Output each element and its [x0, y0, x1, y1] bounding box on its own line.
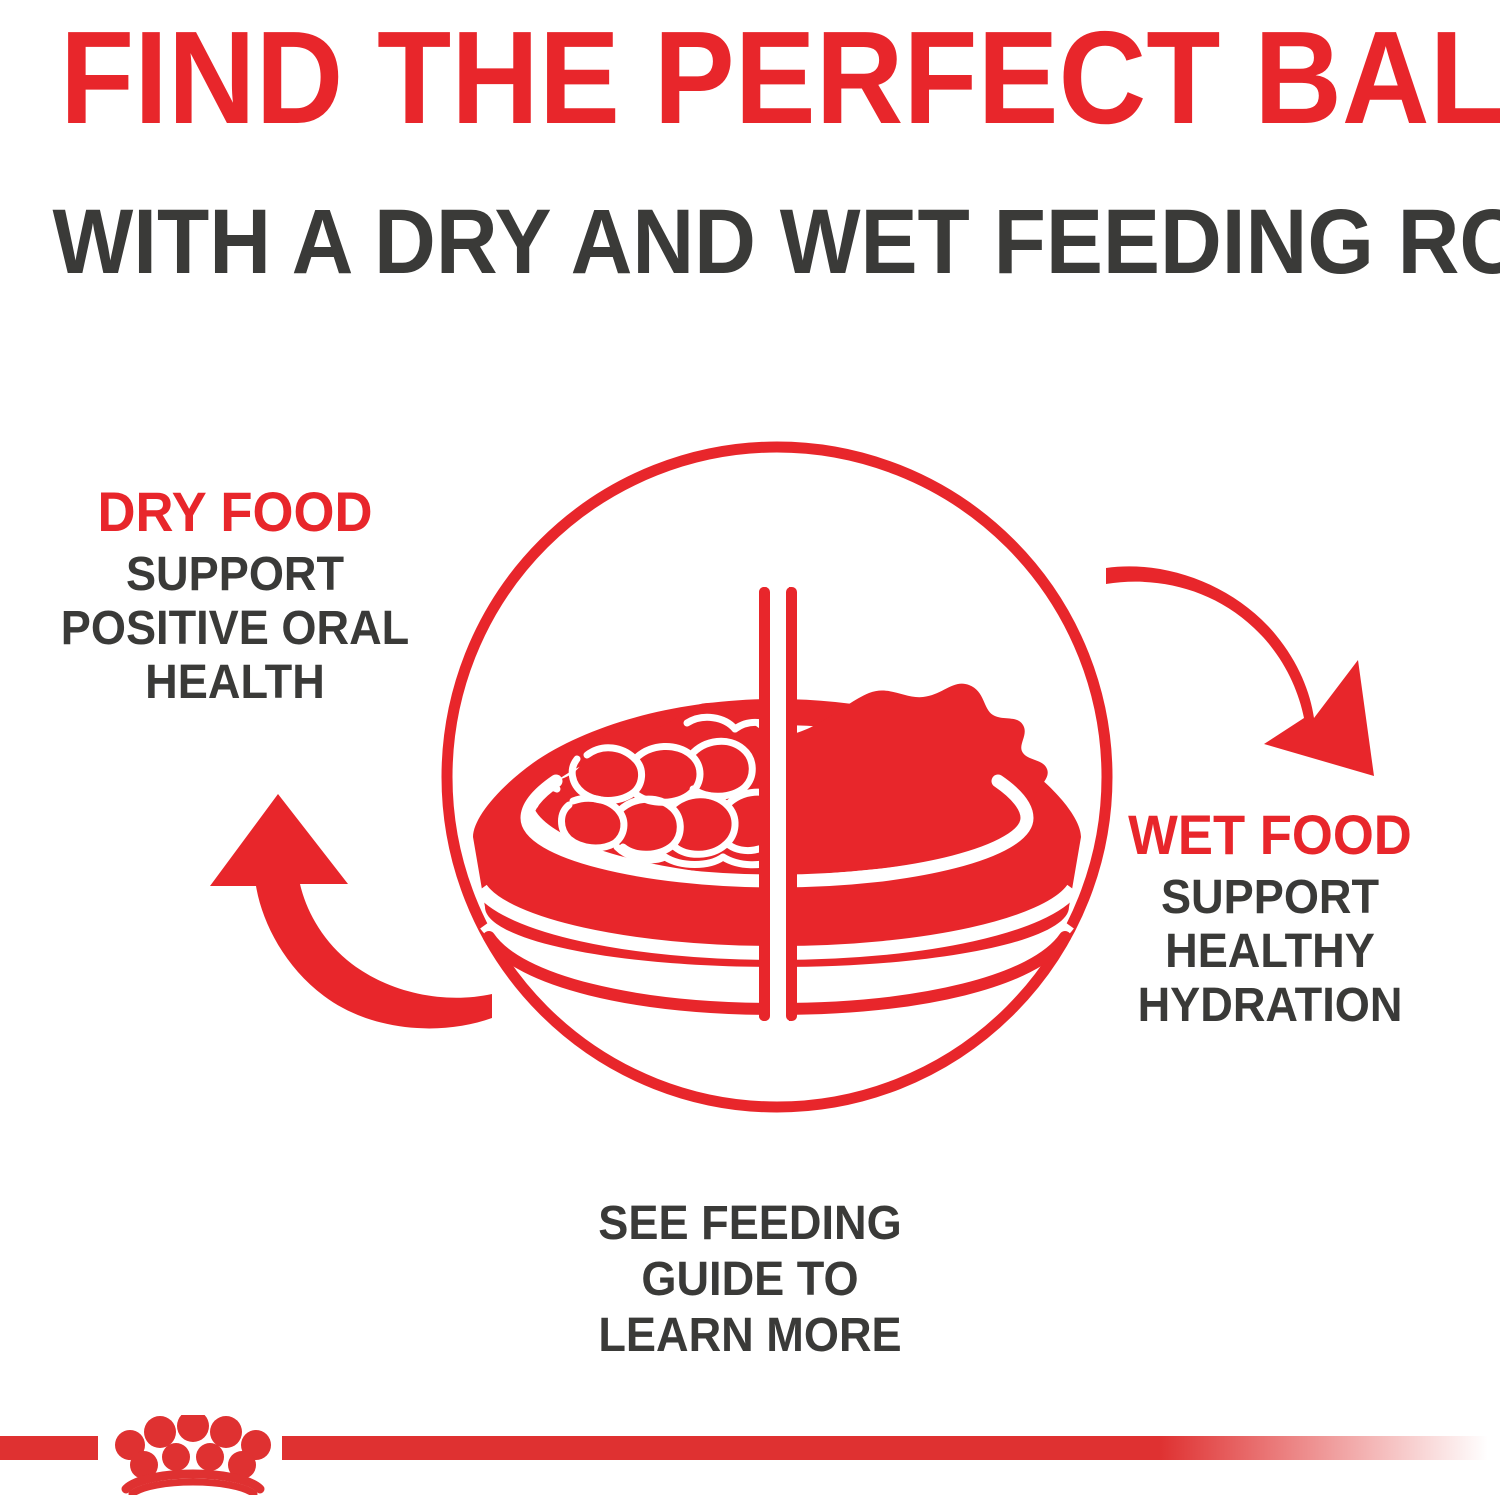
dry-food-description-line-3: HEALTH: [33, 656, 437, 710]
curved-arrow-down-right-icon: [1100, 548, 1400, 798]
wet-food-description-line-1: SUPPORT HEALTHY: [1063, 871, 1477, 979]
wet-food-description: SUPPORT HEALTHY HYDRATION: [1063, 871, 1477, 1033]
bowl-graphic: [473, 587, 1081, 1021]
dry-food-label-group: DRY FOOD SUPPORT POSITIVE ORAL HEALTH: [20, 482, 450, 710]
caption-line-3: LEARN MORE: [45, 1308, 1455, 1364]
caption-line-1: SEE FEEDING: [45, 1196, 1455, 1252]
footer-rule-right: [282, 1436, 1500, 1460]
split-dry-wet-bowl-icon: [437, 437, 1117, 1117]
royal-canin-crown-icon: [108, 1415, 278, 1495]
wet-food-description-line-2: HYDRATION: [1063, 979, 1477, 1033]
page-subtitle: WITH A DRY AND WET FEEDING ROUTINE: [53, 192, 1448, 292]
dry-food-title: DRY FOOD: [33, 482, 437, 542]
wet-food-title: WET FOOD: [1063, 805, 1477, 865]
footer-brand-bar: [0, 1415, 1500, 1500]
feeding-guide-caption: SEE FEEDING GUIDE TO LEARN MORE: [0, 1196, 1500, 1364]
header-block: FIND THE PERFECT BALANCE WITH A DRY AND …: [0, 8, 1500, 292]
page-title: FIND THE PERFECT BALANCE: [60, 8, 1440, 148]
dry-food-description-line-2: POSITIVE ORAL: [33, 602, 437, 656]
caption-line-2: GUIDE TO: [45, 1252, 1455, 1308]
dry-food-description: SUPPORT POSITIVE ORAL HEALTH: [33, 548, 437, 710]
dry-food-description-line-1: SUPPORT: [33, 548, 437, 602]
footer-rule-left: [0, 1436, 98, 1460]
